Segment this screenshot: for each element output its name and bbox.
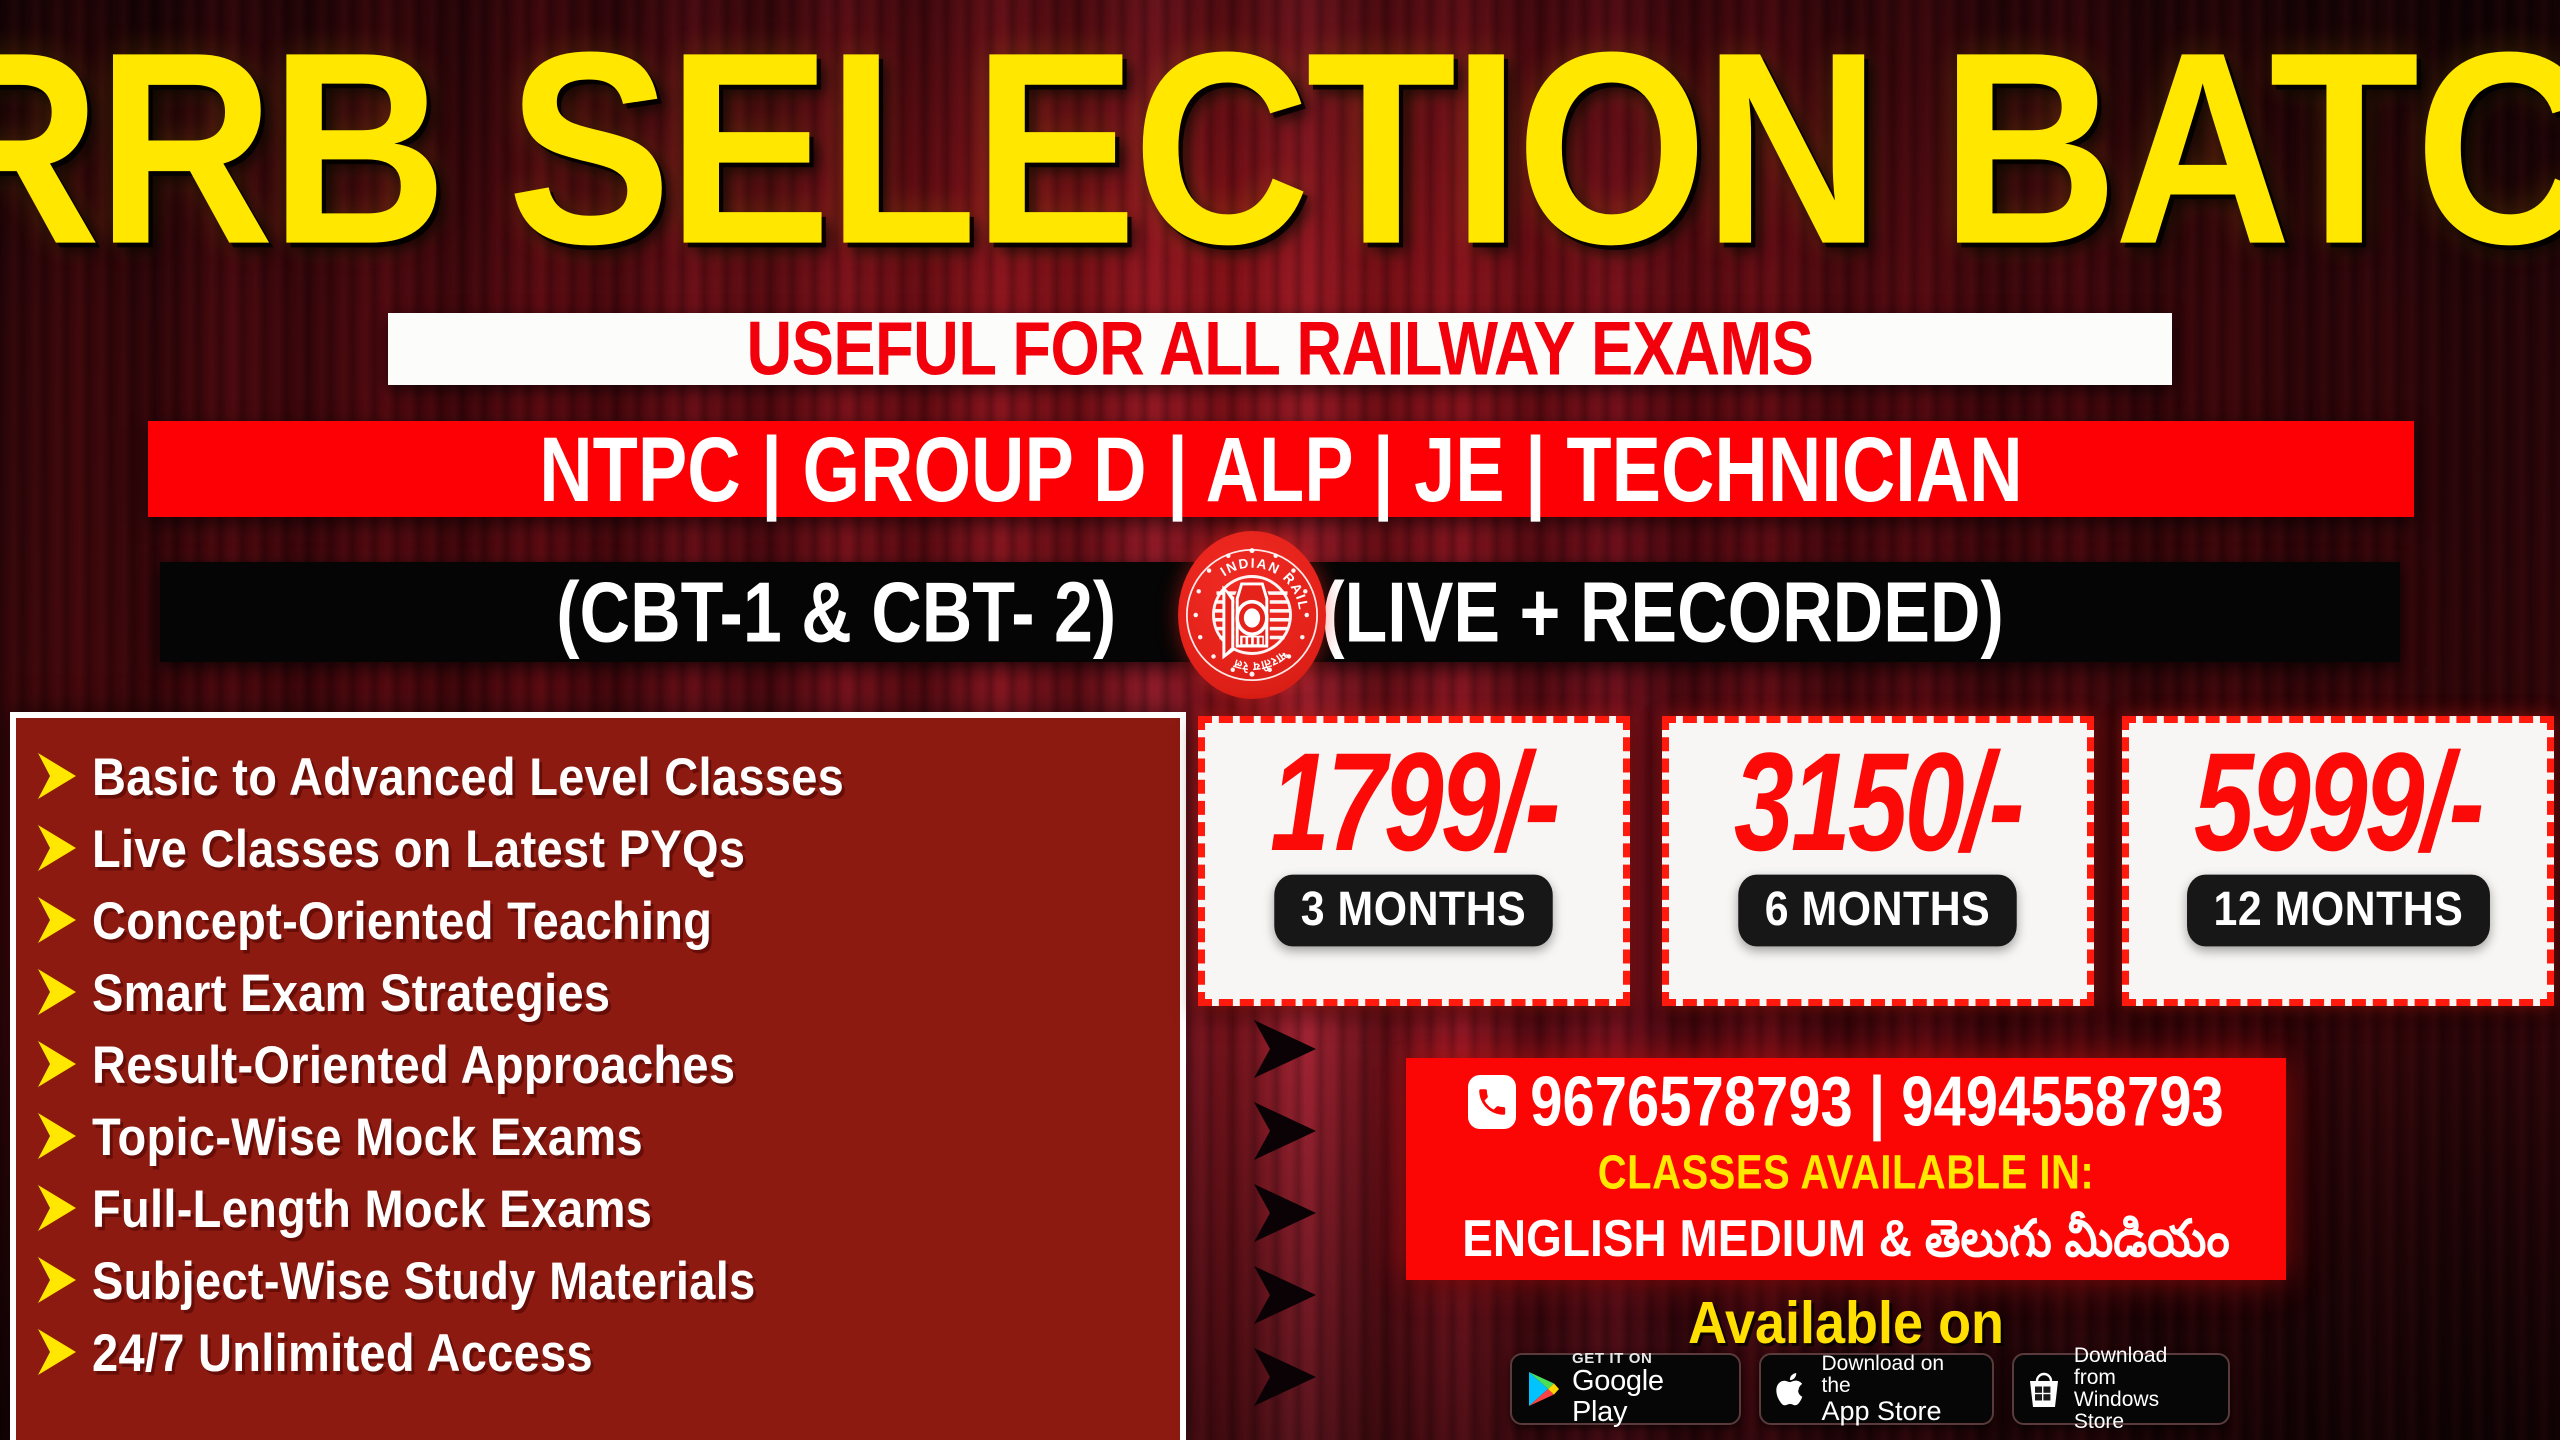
- arrow-right-icon: [1248, 1018, 1322, 1080]
- price-card-3-months[interactable]: 1799/- 3 MONTHS: [1198, 716, 1630, 1006]
- price-card-12-months[interactable]: 5999/- 12 MONTHS: [2122, 716, 2554, 1006]
- chevron-right-icon: [34, 1182, 80, 1234]
- windows-store-icon: [2024, 1367, 2064, 1411]
- duration-badge: 12 MONTHS: [2187, 875, 2490, 947]
- google-play-icon: [1522, 1367, 1562, 1411]
- store-badges-group: GET IT ON Google Play Download on the Ap…: [1510, 1352, 2230, 1426]
- list-item: 24/7 Unlimited Access: [34, 1316, 1180, 1388]
- feature-label: Live Classes on Latest PYQs: [92, 817, 745, 879]
- feature-label: Topic-Wise Mock Exams: [92, 1105, 643, 1167]
- phone-numbers: 9676578793 | 9494558793: [1530, 1061, 2224, 1143]
- arrow-right-icon: [1248, 1100, 1322, 1162]
- chevron-right-icon: [34, 1038, 80, 1090]
- duration-badge: 3 MONTHS: [1275, 875, 1553, 947]
- price-amount: 3150/-: [1734, 731, 2022, 874]
- contact-box: 9676578793 | 9494558793 CLASSES AVAILABL…: [1406, 1058, 2286, 1280]
- price-amount: 5999/-: [2194, 731, 2482, 874]
- list-item: Live Classes on Latest PYQs: [34, 812, 1180, 884]
- features-panel: Basic to Advanced Level Classes Live Cla…: [10, 712, 1186, 1440]
- indian-railways-emblem-icon: INDIAN RAILWAYS भारतीय रेल: [1178, 531, 1326, 699]
- feature-label: Subject-Wise Study Materials: [92, 1249, 756, 1311]
- duration-badge: 6 MONTHS: [1739, 875, 2017, 947]
- chevron-right-icon: [34, 1254, 80, 1306]
- phone-icon: [1468, 1075, 1516, 1129]
- feature-label: 24/7 Unlimited Access: [92, 1321, 593, 1383]
- app-store-badge[interactable]: Download on the App Store: [1759, 1353, 1993, 1425]
- chevron-right-icon: [34, 822, 80, 874]
- classes-available-label: CLASSES AVAILABLE IN:: [1598, 1147, 2094, 1201]
- list-item: Topic-Wise Mock Exams: [34, 1100, 1180, 1172]
- list-item: Basic to Advanced Level Classes: [34, 740, 1180, 812]
- windows-store-badge[interactable]: Download from Windows Store: [2012, 1353, 2230, 1425]
- list-item: Full-Length Mock Exams: [34, 1172, 1180, 1244]
- google-play-small-text: GET IT ON: [1572, 1351, 1725, 1367]
- page-title: RRB SELECTION BATCH: [0, 22, 2560, 277]
- google-play-big-text: Google Play: [1572, 1366, 1725, 1427]
- feature-label: Smart Exam Strategies: [92, 961, 610, 1023]
- exam-list-band: NTPC | GROUP D | ALP | JE | TECHNICIAN: [148, 421, 2414, 517]
- price-card-6-months[interactable]: 3150/- 6 MONTHS: [1662, 716, 2094, 1006]
- feature-label: Basic to Advanced Level Classes: [92, 745, 844, 807]
- feature-label: Concept-Oriented Teaching: [92, 889, 712, 951]
- arrow-decoration-group: [1248, 1018, 1338, 1438]
- feature-label: Full-Length Mock Exams: [92, 1177, 652, 1239]
- chevron-right-icon: [34, 750, 80, 802]
- feature-label: Result-Oriented Approaches: [92, 1033, 735, 1095]
- windows-store-line2: Windows Store: [2074, 1389, 2214, 1433]
- list-item: Subject-Wise Study Materials: [34, 1244, 1180, 1316]
- windows-store-line1: Download from: [2074, 1345, 2214, 1389]
- arrow-right-icon: [1248, 1346, 1322, 1408]
- app-store-line2: App Store: [1821, 1397, 1977, 1425]
- list-item: Concept-Oriented Teaching: [34, 884, 1180, 956]
- phone-row[interactable]: 9676578793 | 9494558793: [1468, 1068, 2224, 1135]
- chevron-right-icon: [34, 1326, 80, 1378]
- chevron-right-icon: [34, 894, 80, 946]
- list-item: Smart Exam Strategies: [34, 956, 1180, 1028]
- subtitle-band-useful: USEFUL FOR ALL RAILWAY EXAMS: [388, 313, 2172, 385]
- list-item: Result-Oriented Approaches: [34, 1028, 1180, 1100]
- subtitle-useful-text: USEFUL FOR ALL RAILWAY EXAMS: [747, 306, 1814, 393]
- arrow-right-icon: [1248, 1182, 1322, 1244]
- chevron-right-icon: [34, 1110, 80, 1162]
- app-store-line1: Download on the: [1821, 1353, 1977, 1397]
- arrow-right-icon: [1248, 1264, 1322, 1326]
- cbt-stage-text: (CBT-1 & CBT- 2): [556, 563, 1116, 661]
- google-play-badge[interactable]: GET IT ON Google Play: [1510, 1353, 1741, 1425]
- delivery-mode-text: (LIVE + RECORDED): [1321, 563, 2004, 661]
- exam-list-text: NTPC | GROUP D | ALP | JE | TECHNICIAN: [539, 416, 2023, 521]
- price-amount: 1799/-: [1270, 731, 1558, 874]
- apple-icon: [1771, 1367, 1811, 1411]
- medium-languages: ENGLISH MEDIUM & తెలుగు మీడియం: [1462, 1208, 2230, 1282]
- chevron-right-icon: [34, 966, 80, 1018]
